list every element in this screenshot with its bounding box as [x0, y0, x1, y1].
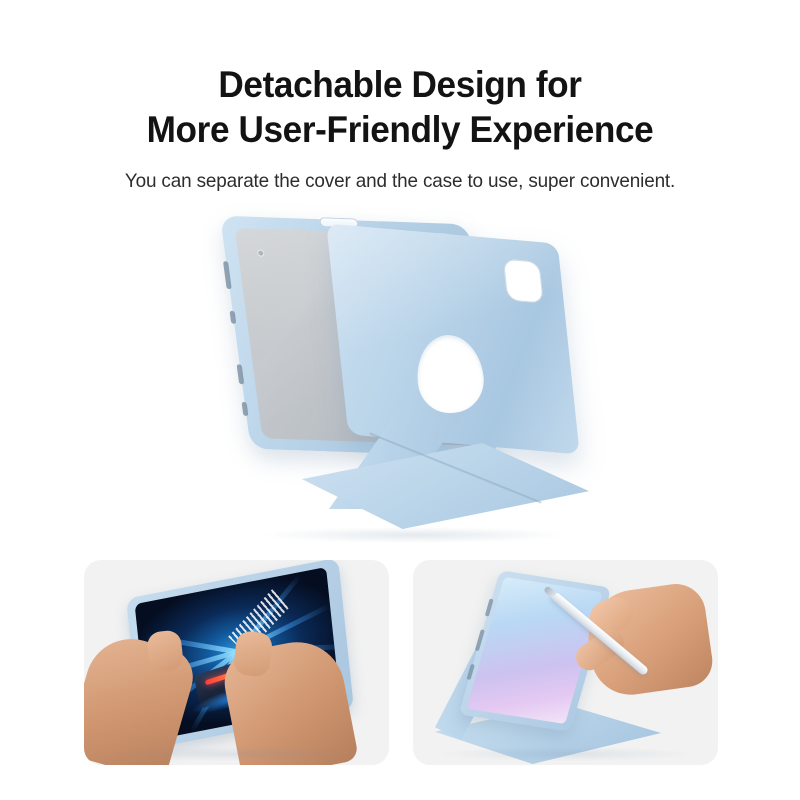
hero-stage	[225, 205, 595, 555]
thumb	[146, 629, 184, 672]
front-camera-dot-icon	[258, 251, 264, 256]
stand-base-flap	[293, 443, 589, 529]
cover-camera-cutout	[503, 259, 544, 304]
hero-product-image	[0, 205, 800, 555]
hero-drop-shadow	[265, 527, 565, 543]
page-title: Detachable Design for More User-Friendly…	[20, 62, 780, 152]
headline-line-1: Detachable Design for	[20, 62, 780, 107]
inset-gallery	[0, 560, 800, 770]
detached-cover-stand	[321, 227, 573, 527]
port-cutout	[242, 402, 249, 416]
inset-shadow	[441, 747, 691, 761]
inset-shadow	[112, 747, 362, 761]
thumb	[232, 630, 273, 678]
inset-card-gaming	[84, 560, 389, 765]
headline-line-2: More User-Friendly Experience	[20, 107, 780, 152]
inset-card-stand-stylus	[413, 560, 718, 765]
product-banner-page: Detachable Design for More User-Friendly…	[0, 0, 800, 800]
speaker-slot	[237, 364, 245, 384]
volume-button-cutout	[230, 311, 237, 324]
speaker-slot	[485, 599, 494, 617]
header: Detachable Design for More User-Friendly…	[0, 62, 800, 194]
speaker-slot	[223, 261, 232, 289]
page-subtitle: You can separate the cover and the case …	[12, 168, 788, 194]
